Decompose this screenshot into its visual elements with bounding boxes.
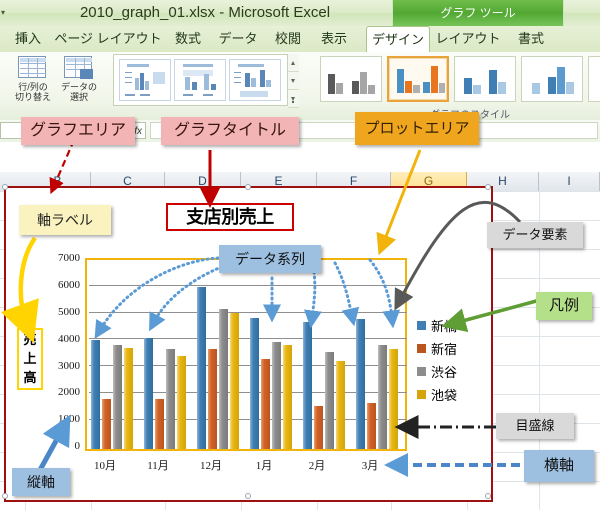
callout-gridline: 目盛線 xyxy=(496,413,574,439)
legend-swatch-icon xyxy=(417,321,426,330)
bar-池袋-10月[interactable] xyxy=(124,348,133,449)
switch-row-column-label-1: 行/列の xyxy=(14,82,52,92)
bar-新橋-12月[interactable] xyxy=(197,287,206,449)
chart-style-thumbnail-2-selected[interactable] xyxy=(387,56,449,102)
x-tick-3: 12月 xyxy=(183,457,239,473)
callout-chart-title: グラフタイトル xyxy=(161,117,299,145)
y-tick-5000: 5000 xyxy=(38,306,80,318)
select-data-icon xyxy=(64,56,94,82)
bar-新宿-3月[interactable] xyxy=(367,403,376,449)
bar-池袋-3月[interactable] xyxy=(389,349,398,449)
resize-handle-ne[interactable] xyxy=(485,184,491,190)
bar-新橋-10月[interactable] xyxy=(91,340,100,449)
gallery-scroll-buttons[interactable] xyxy=(287,54,299,106)
chart-layout-thumbnail-2[interactable] xyxy=(174,59,226,101)
gallery-more-icon[interactable] xyxy=(288,90,299,108)
x-tick-1: 10月 xyxy=(77,457,133,473)
callout-plot-area: プロットエリア xyxy=(355,112,479,145)
ribbon-tab-5[interactable]: 表示 xyxy=(312,26,356,52)
bar-池袋-11月[interactable] xyxy=(177,356,186,449)
bar-新橋-11月[interactable] xyxy=(144,338,153,449)
bar-池袋-1月[interactable] xyxy=(283,345,292,449)
legend-item-0[interactable]: 新橋 xyxy=(417,315,483,338)
ribbon-tab-8[interactable]: 書式 xyxy=(508,26,554,52)
y-tick-7000: 7000 xyxy=(38,252,80,264)
chart-layout-thumbnail-1[interactable] xyxy=(119,59,171,101)
bar-渋谷-1月[interactable] xyxy=(272,342,281,449)
switch-row-column-button[interactable]: 行/列の 切り替え xyxy=(14,56,52,102)
x-tick-2: 11月 xyxy=(130,457,186,473)
y-tick-3000: 3000 xyxy=(38,360,80,372)
ribbon-tab-1[interactable]: ページ レイアウト xyxy=(52,26,164,52)
bar-新宿-12月[interactable] xyxy=(208,349,217,449)
column-header-I[interactable]: I xyxy=(539,172,600,191)
ribbon-tab-6[interactable]: デザイン xyxy=(366,26,430,54)
select-data-label-2: 選択 xyxy=(58,92,100,102)
bar-渋谷-2月[interactable] xyxy=(325,352,334,449)
y-tick-1000: 1000 xyxy=(38,413,80,425)
ribbon-body: 行/列の 切り替え データの 選択 xyxy=(0,52,600,121)
vertical-axis-title[interactable]: 売 上 高 xyxy=(17,328,43,390)
quick-access-caret-icon[interactable]: ▾ xyxy=(1,8,5,17)
legend-item-1[interactable]: 新宿 xyxy=(417,338,483,361)
bar-渋谷-12月[interactable] xyxy=(219,309,228,449)
bar-新橋-3月[interactable] xyxy=(356,319,365,449)
callout-data-series: データ系列 xyxy=(219,245,321,273)
resize-handle-sw[interactable] xyxy=(2,493,8,499)
legend-swatch-icon xyxy=(417,390,426,399)
legend-label: 新宿 xyxy=(431,339,457,358)
chart-legend[interactable]: 新橋 新宿 渋谷 池袋 xyxy=(417,315,483,407)
legend-item-3[interactable]: 池袋 xyxy=(417,384,483,407)
y-tick-4000: 4000 xyxy=(38,333,80,345)
bar-渋谷-3月[interactable] xyxy=(378,345,387,449)
ribbon-tab-3[interactable]: データ xyxy=(212,26,264,52)
switch-row-column-label-2: 切り替え xyxy=(14,92,52,102)
legend-label: 新橋 xyxy=(431,316,457,335)
chart-layout-gallery[interactable] xyxy=(113,54,299,106)
bar-新宿-11月[interactable] xyxy=(155,399,164,449)
bar-渋谷-11月[interactable] xyxy=(166,349,175,449)
callout-vertical-axis: 縦軸 xyxy=(12,468,70,496)
resize-handle-nw[interactable] xyxy=(2,184,8,190)
resize-handle-n[interactable] xyxy=(245,184,251,190)
chart-style-thumbnail-5[interactable] xyxy=(588,56,600,102)
legend-swatch-icon xyxy=(417,367,426,376)
y-tick-0: 0 xyxy=(38,440,80,452)
bar-新宿-10月[interactable] xyxy=(102,399,111,449)
chart-style-thumbnail-4[interactable] xyxy=(521,56,583,102)
title-bar: ▾ 2010_graph_01.xlsx - Microsoft Excel グ… xyxy=(0,0,600,27)
bar-新橋-1月[interactable] xyxy=(250,318,259,449)
chart-layout-thumbnail-3[interactable] xyxy=(229,59,281,101)
gallery-scroll-down-icon[interactable] xyxy=(288,72,299,90)
document-title: 2010_graph_01.xlsx - Microsoft Excel xyxy=(40,2,370,24)
chart-style-gallery[interactable] xyxy=(320,54,600,106)
bar-池袋-2月[interactable] xyxy=(336,361,345,449)
x-tick-6: 3月 xyxy=(342,457,398,473)
callout-legend: 凡例 xyxy=(536,292,592,320)
bar-新宿-2月[interactable] xyxy=(314,406,323,449)
ribbon-tab-2[interactable]: 数式 xyxy=(166,26,210,52)
axis-title-char-2: 上 xyxy=(19,349,41,368)
chart-title[interactable]: 支店別売上 xyxy=(166,203,294,231)
legend-label: 池袋 xyxy=(431,385,457,404)
resize-handle-s[interactable] xyxy=(245,493,251,499)
chart-style-thumbnail-1[interactable] xyxy=(320,56,382,102)
callout-chart-area: グラフエリア xyxy=(21,117,135,145)
gallery-scroll-up-icon[interactable] xyxy=(288,54,299,72)
callout-data-point: データ要素 xyxy=(487,222,583,248)
legend-swatch-icon xyxy=(417,344,426,353)
resize-handle-se[interactable] xyxy=(485,493,491,499)
bar-池袋-12月[interactable] xyxy=(230,313,239,449)
y-tick-6000: 6000 xyxy=(38,279,80,291)
switch-row-column-icon xyxy=(18,56,48,82)
chart-tools-contextual-tab: グラフ ツール xyxy=(392,0,564,26)
axis-title-char-3: 高 xyxy=(19,368,41,387)
axis-title-char-1: 売 xyxy=(19,330,41,349)
bar-新橋-2月[interactable] xyxy=(303,322,312,449)
ribbon-tab-7[interactable]: レイアウト xyxy=(432,26,504,52)
select-data-label-1: データの xyxy=(58,82,100,92)
legend-item-2[interactable]: 渋谷 xyxy=(417,361,483,384)
bar-新宿-1月[interactable] xyxy=(261,359,270,449)
callout-axis-label: 軸ラベル xyxy=(19,205,111,235)
ribbon-tab-strip: 挿入ページ レイアウト数式データ校閲表示デザインレイアウト書式 xyxy=(0,26,600,53)
x-tick-4: 1月 xyxy=(236,457,292,473)
y-tick-2000: 2000 xyxy=(38,386,80,398)
chart-style-thumbnail-3[interactable] xyxy=(454,56,516,102)
bar-series-container xyxy=(87,260,405,449)
chart-tools-label: グラフ ツール xyxy=(393,0,563,26)
ribbon-tab-4[interactable]: 校閲 xyxy=(266,26,310,52)
bar-渋谷-10月[interactable] xyxy=(113,345,122,449)
ribbon-tab-0[interactable]: 挿入 xyxy=(6,26,50,52)
legend-label: 渋谷 xyxy=(431,362,457,381)
callout-horizontal-axis: 横軸 xyxy=(524,450,594,482)
select-data-button[interactable]: データの 選択 xyxy=(58,56,100,102)
x-tick-5: 2月 xyxy=(289,457,345,473)
